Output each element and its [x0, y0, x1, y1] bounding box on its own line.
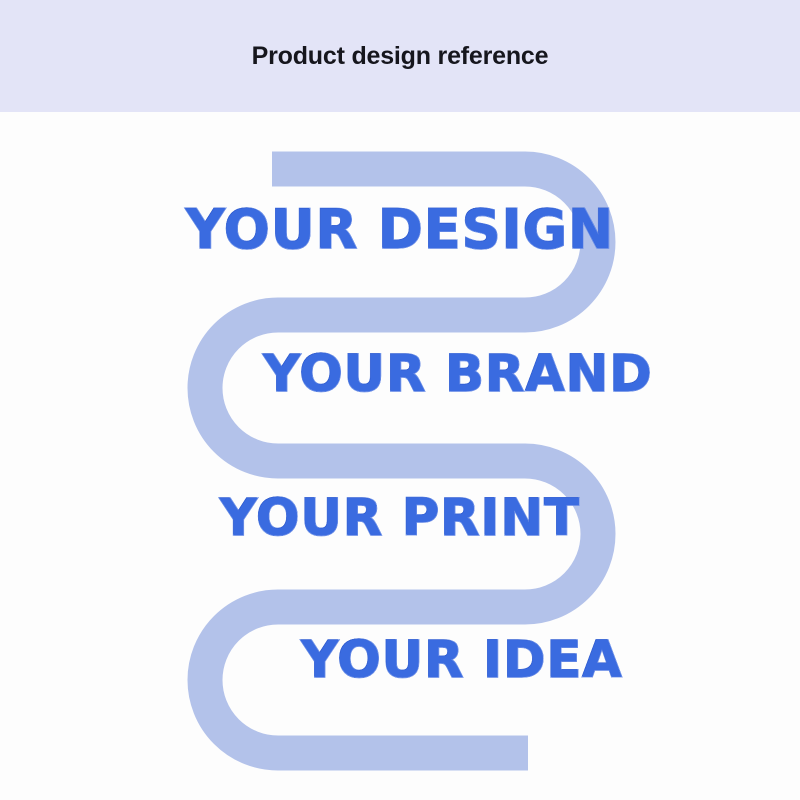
step-row-2: YOUR BRAND YOUR BRAND YOUR BRAND [0, 344, 800, 404]
step-label-3: YOUR PRINT YOUR PRINT YOUR PRINT [220, 493, 580, 544]
step-label-1: YOUR DESIGN YOUR DESIGN YOUR DESIGN [186, 203, 615, 257]
poster-canvas: Product design reference YOUR DESIGN YOU… [0, 0, 800, 800]
artboard: YOUR DESIGN YOUR DESIGN YOUR DESIGN YOUR… [0, 112, 800, 800]
step-label-3-base: YOUR PRINT [220, 489, 580, 548]
header-bar: Product design reference [0, 0, 800, 112]
step-label-4: YOUR IDEA YOUR IDEA YOUR IDEA [301, 635, 623, 686]
step-row-3: YOUR PRINT YOUR PRINT YOUR PRINT [0, 488, 800, 548]
step-row-1: YOUR DESIGN YOUR DESIGN YOUR DESIGN [0, 200, 800, 260]
step-label-2-base: YOUR BRAND [263, 345, 653, 404]
step-label-2: YOUR BRAND YOUR BRAND YOUR BRAND [263, 349, 653, 400]
page-title: Product design reference [252, 42, 549, 71]
step-row-4: YOUR IDEA YOUR IDEA YOUR IDEA [0, 630, 800, 690]
step-label-1-base: YOUR DESIGN [186, 198, 615, 261]
step-label-4-base: YOUR IDEA [301, 631, 623, 690]
